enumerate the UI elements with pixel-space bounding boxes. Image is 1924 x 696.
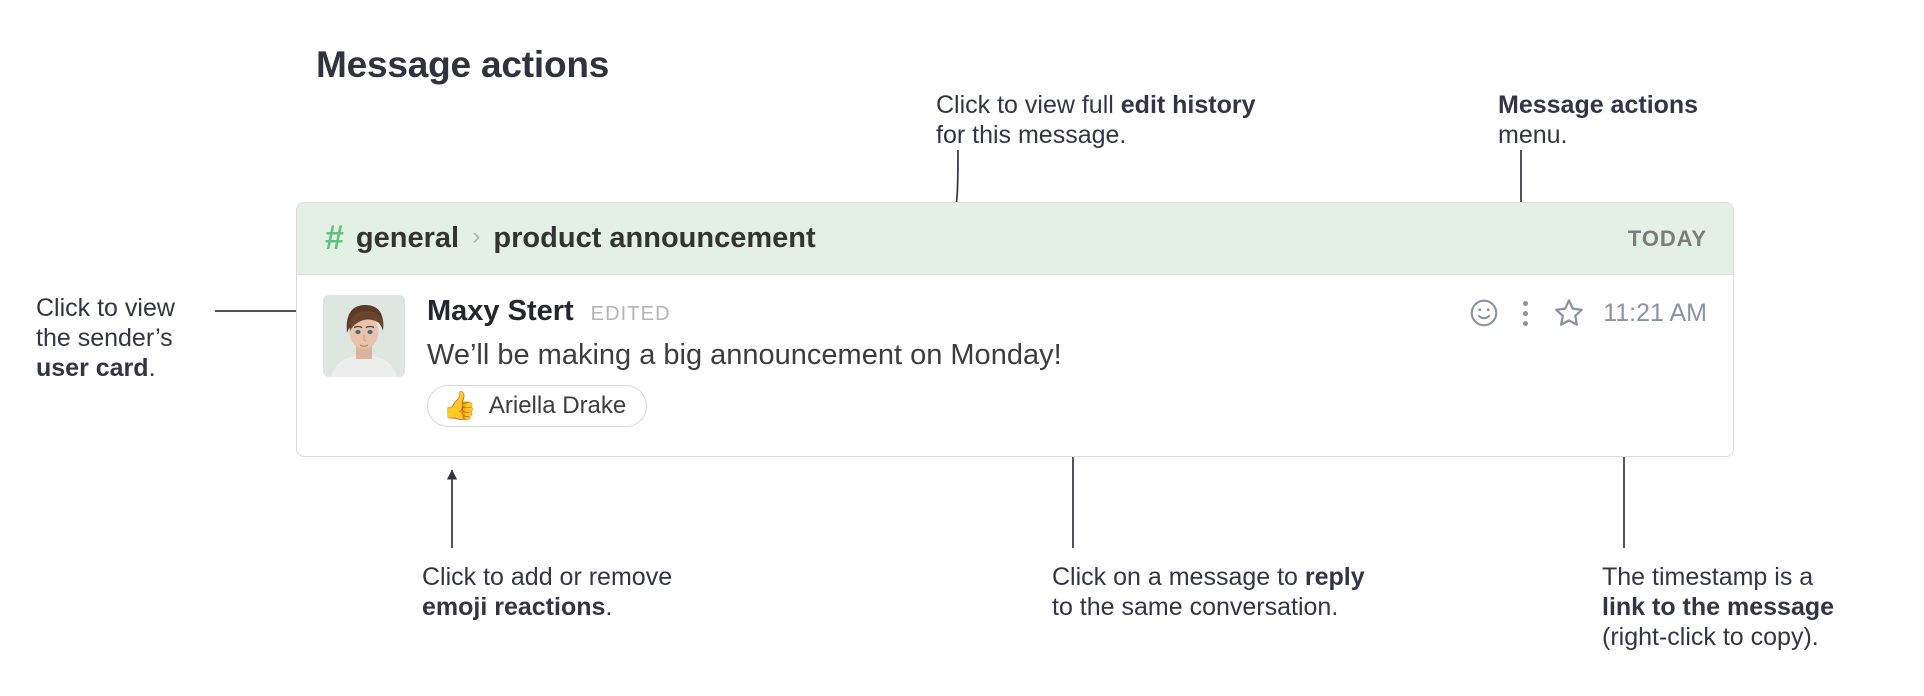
annotation-text: (right-click to copy). [1602, 622, 1834, 652]
annotation-text: menu. [1498, 120, 1698, 150]
message-card: # general › product announcement TODAY [296, 202, 1734, 457]
annotation-text: Click to add or remove [422, 562, 672, 592]
menu-dot [1523, 301, 1528, 306]
annotation-emphasis: Message actions [1498, 91, 1698, 119]
annotation-emphasis: emoji reactions [422, 593, 605, 621]
message-text[interactable]: We’ll be making a big announcement on Mo… [427, 339, 1707, 372]
thumbs-up-emoji: 👍 [442, 392, 477, 420]
annotation-emphasis: link to the message [1602, 593, 1834, 621]
annotation-emphasis: edit history [1121, 91, 1256, 119]
annotation-text: Click to view full [936, 91, 1121, 119]
page-title: Message actions [316, 44, 609, 86]
emoji-reaction-icon[interactable] [1467, 296, 1501, 330]
annotation-text: Click on a message to [1052, 563, 1305, 591]
message-actions: 11:21 AM [1467, 295, 1707, 331]
annotation-text: The timestamp is a [1602, 562, 1834, 592]
reaction-user-name: Ariella Drake [489, 392, 626, 420]
chevron-right-icon: › [472, 222, 480, 251]
topic-name[interactable]: product announcement [493, 222, 815, 255]
message-actions-menu-icon[interactable] [1511, 296, 1539, 330]
day-label: TODAY [1628, 226, 1707, 252]
annotation-actions-menu: Message actions menu. [1498, 90, 1698, 150]
annotation-user-card: Click to view the sender’s user card. [36, 293, 175, 383]
channel-name[interactable]: general [356, 222, 459, 255]
annotation-text: for this message. [936, 120, 1256, 150]
avatar[interactable] [323, 295, 405, 377]
hash-icon: # [325, 221, 344, 255]
channel-header: # general › product announcement TODAY [297, 203, 1733, 275]
annotation-text: the sender’s [36, 323, 175, 353]
message-timestamp[interactable]: 11:21 AM [1603, 299, 1707, 328]
annotation-emphasis: user card [36, 354, 149, 382]
diagram-canvas: Message actions Click to view full edit … [0, 0, 1924, 696]
annotation-text: Click to view [36, 293, 175, 323]
sender-name[interactable]: Maxy Stert [427, 295, 574, 328]
annotation-text: to the same conversation. [1052, 592, 1365, 622]
message-row[interactable]: Maxy Stert EDITED We’ll be making a big … [297, 275, 1733, 427]
annotation-timestamp: The timestamp is a link to the message (… [1602, 562, 1834, 652]
annotation-reply: Click on a message to reply to the same … [1052, 562, 1365, 622]
annotation-text: . [149, 354, 156, 382]
annotation-emphasis: reply [1305, 563, 1365, 591]
menu-dot [1523, 311, 1528, 316]
annotation-edit-history: Click to view full edit history for this… [936, 90, 1256, 150]
annotation-emoji-reactions: Click to add or remove emoji reactions. [422, 562, 672, 622]
annotation-text: . [605, 593, 612, 621]
menu-dot [1523, 321, 1528, 326]
edited-badge[interactable]: EDITED [591, 303, 671, 326]
reaction-row: 👍 Ariella Drake [427, 385, 1707, 427]
star-icon[interactable] [1551, 295, 1587, 331]
reaction-pill[interactable]: 👍 Ariella Drake [427, 385, 647, 427]
